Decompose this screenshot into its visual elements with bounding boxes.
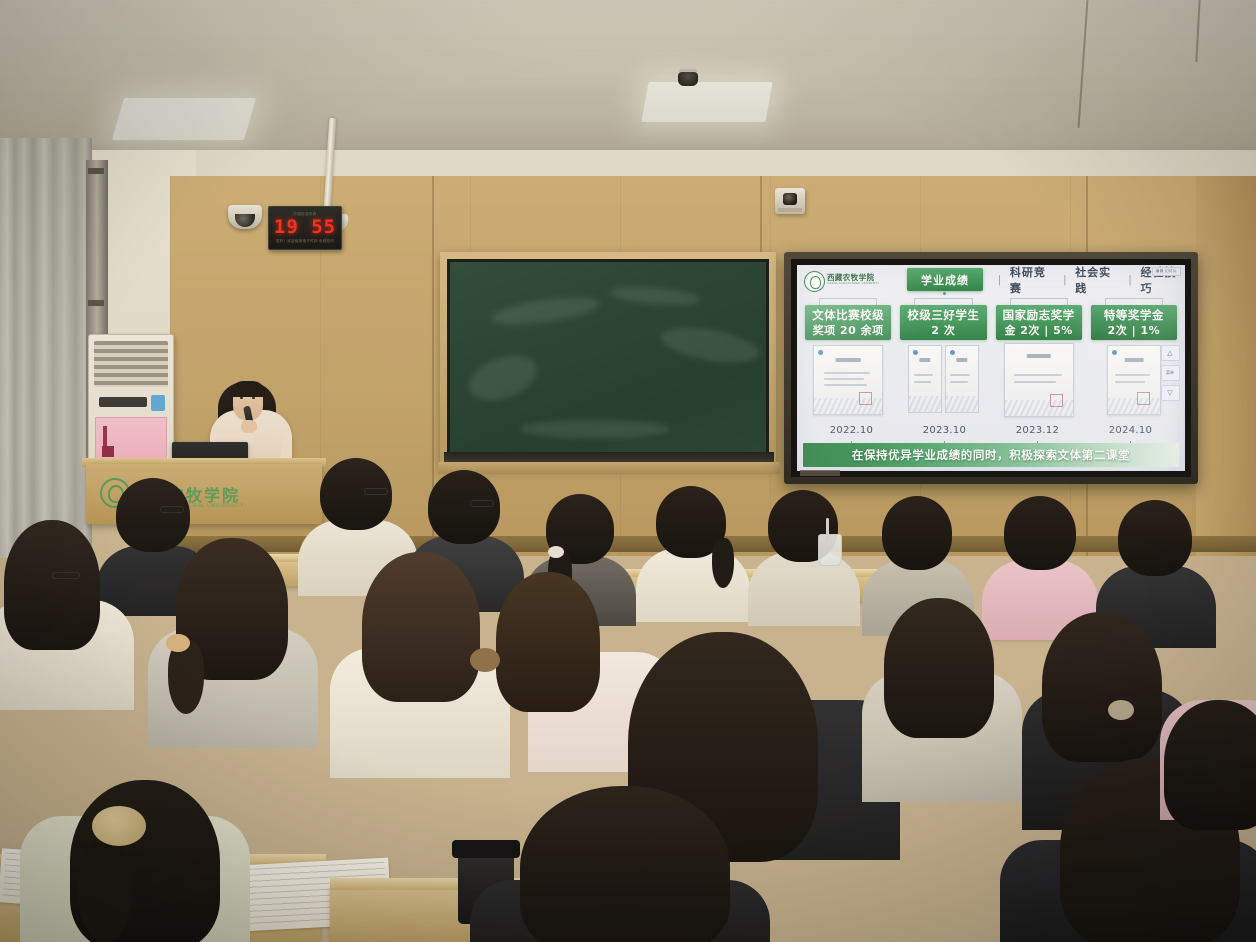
clock-bottom-label: 您好！欢迎使用电子时钟 系统校时	[276, 238, 334, 245]
hair-tie	[548, 546, 564, 558]
led-wall-clock: 中国标准时间 19 55 您好！欢迎使用电子时钟 系统校时	[268, 206, 342, 250]
lecturer-eye	[252, 397, 255, 399]
straw	[826, 518, 829, 540]
student-hair	[884, 598, 994, 738]
hair-tie	[92, 806, 146, 846]
chalkboard-ledge	[438, 462, 780, 474]
cert-logo-dot	[818, 350, 823, 355]
card-line-2: 奖项 20 余项	[813, 323, 884, 338]
student-hair	[496, 572, 600, 712]
tab-separator: |	[1054, 274, 1075, 286]
card-line-2: 金 2次 | 5%	[1004, 323, 1072, 338]
certificate-image	[1107, 345, 1161, 415]
eyeglasses-icon	[160, 506, 184, 513]
student-hair	[1164, 700, 1256, 830]
student-head	[882, 496, 952, 570]
certificate-image	[945, 345, 979, 413]
cert-text-line	[1014, 374, 1062, 376]
achievement-card: 校级三好学生 2 次	[900, 298, 986, 426]
cert-text-line	[914, 374, 934, 376]
screen-up-button[interactable]: △	[1161, 345, 1180, 361]
university-name-en: XIZANG AGRICULTURAL UNIVERSITY	[827, 282, 899, 286]
certificate-image	[908, 345, 942, 413]
tab-separator: |	[1120, 274, 1141, 286]
clock-time-display: 19 55	[274, 217, 336, 238]
screen-menu-button[interactable]: 菜单	[1161, 365, 1180, 381]
cert-logo-dot	[1112, 350, 1117, 355]
university-name: 西藏农牧学院 XIZANG AGRICULTURAL UNIVERSITY	[827, 273, 899, 286]
student-head	[1118, 500, 1192, 576]
presentation-slide[interactable]: 西藏农牧学院 XIZANG AGRICULTURAL UNIVERSITY 学业…	[797, 265, 1185, 471]
timeline-date: 2023.10	[898, 425, 991, 441]
cert-guilloche	[946, 396, 978, 412]
cert-guilloche	[1108, 398, 1160, 414]
right-wall-edge	[1196, 176, 1256, 556]
cert-title-bar	[1005, 354, 1073, 359]
coffee-cup-lid	[452, 840, 520, 858]
card-line-1: 校级三好学生	[907, 308, 979, 323]
screen-down-button[interactable]: ▽	[1161, 385, 1180, 401]
slide-watermark: 编辑 幻灯片	[1152, 267, 1181, 276]
screen-bottom-label	[800, 470, 840, 476]
card-header: 国家励志奖学 金 2次 | 5%	[996, 305, 1082, 340]
cert-text-line	[824, 384, 868, 386]
ponytail	[712, 538, 734, 588]
university-logo-icon	[804, 271, 825, 292]
card-line-2: 2 次	[931, 323, 955, 338]
card-line-1: 特等奖学金	[1104, 308, 1164, 323]
certificate-image-pair	[908, 345, 978, 413]
card-header: 文体比赛校级 奖项 20 余项	[805, 305, 891, 340]
timeline-date-row: 2022.10 2023.10 2023.12 2024.10	[805, 425, 1177, 441]
student-hair	[362, 552, 480, 702]
timeline-date: 2022.10	[805, 425, 898, 441]
cert-title-bar	[1108, 358, 1160, 363]
student-hair	[4, 520, 100, 650]
cert-text-line	[1115, 374, 1149, 376]
card-line-1: 国家励志奖学	[1003, 308, 1075, 323]
air-conditioner	[88, 334, 174, 476]
screen-side-controls[interactable]: △ 菜单 ▽	[1160, 345, 1180, 407]
cert-logo-dot	[950, 350, 955, 355]
achievement-card-row: 文体比赛校级 奖项 20 余项 校级三好学生 2 次	[805, 298, 1177, 426]
cert-text-line	[950, 381, 968, 383]
chalk-smudge	[520, 420, 670, 438]
hair-tie	[166, 634, 190, 652]
eyeglasses-icon	[470, 500, 494, 507]
cert-title-bar	[909, 358, 941, 363]
hair-tie	[1108, 700, 1134, 720]
hair-tie	[470, 648, 500, 672]
lecturer-eye	[240, 397, 243, 399]
cert-title-bar	[814, 358, 882, 363]
achievement-card: 国家励志奖学 金 2次 | 5%	[996, 298, 1082, 426]
timeline-date: 2023.12	[991, 425, 1084, 441]
card-line-2: 2次 | 1%	[1108, 323, 1161, 338]
ponytail	[78, 842, 132, 942]
cert-title-bar	[946, 358, 978, 363]
card-line-1: 文体比赛校级	[812, 308, 884, 323]
pink-notice-poster	[95, 417, 167, 461]
cert-guilloche	[909, 396, 941, 412]
student-head	[1004, 496, 1076, 570]
timeline-date: 2024.10	[1084, 425, 1177, 441]
lecture-hall-photo: 中国标准时间 19 55 您好！欢迎使用电子时钟 系统校时 西藏农牧学院 XIZ…	[0, 0, 1256, 942]
certificate-image	[1004, 343, 1074, 417]
lecturer-hand	[241, 420, 257, 433]
eyeglasses-icon	[52, 572, 80, 579]
certificate-image	[813, 345, 883, 415]
cert-guilloche	[1005, 400, 1073, 416]
slide-banner-text: 在保持优异学业成绩的同时，积极探索文体第二课堂	[852, 447, 1130, 463]
slide-bottom-banner: 在保持优异学业成绩的同时，积极探索文体第二课堂	[803, 443, 1179, 467]
cert-text-line	[824, 372, 870, 374]
slide-tab-social-practice[interactable]: 社会实践	[1075, 265, 1119, 296]
ac-display-panel	[99, 397, 147, 407]
student-head	[428, 470, 500, 544]
security-camera-icon	[775, 188, 805, 214]
active-tab-indicator-dot	[943, 292, 946, 295]
dome-camera-left	[228, 205, 262, 229]
cert-text-line	[950, 374, 970, 376]
card-header: 校级三好学生 2 次	[900, 305, 986, 340]
slide-tab-research[interactable]: 科研竞赛	[1010, 265, 1054, 296]
card-header: 特等奖学金 2次 | 1%	[1091, 305, 1177, 340]
cert-text-line	[1014, 381, 1056, 383]
achievement-card: 文体比赛校级 奖项 20 余项	[805, 298, 891, 426]
university-name-cn: 西藏农牧学院	[827, 273, 899, 282]
student-hair	[1042, 612, 1162, 762]
slide-tab-academic[interactable]: 学业成绩	[907, 268, 983, 291]
drink-cup	[818, 534, 842, 566]
cert-logo-dot	[913, 350, 918, 355]
ac-vent-louvers	[94, 341, 168, 387]
student-hair	[520, 786, 730, 942]
window-curtain	[0, 138, 92, 558]
student-head	[116, 478, 190, 552]
ac-energy-label	[151, 395, 165, 411]
cert-guilloche	[814, 398, 882, 414]
student-shoulders	[748, 552, 860, 626]
cert-text-line	[824, 378, 865, 380]
cert-text-line	[1115, 381, 1145, 383]
cert-text-line	[914, 381, 932, 383]
eyeglasses-icon	[364, 488, 388, 495]
tab-separator: |	[989, 274, 1010, 286]
lecturer-bangs	[230, 381, 266, 397]
